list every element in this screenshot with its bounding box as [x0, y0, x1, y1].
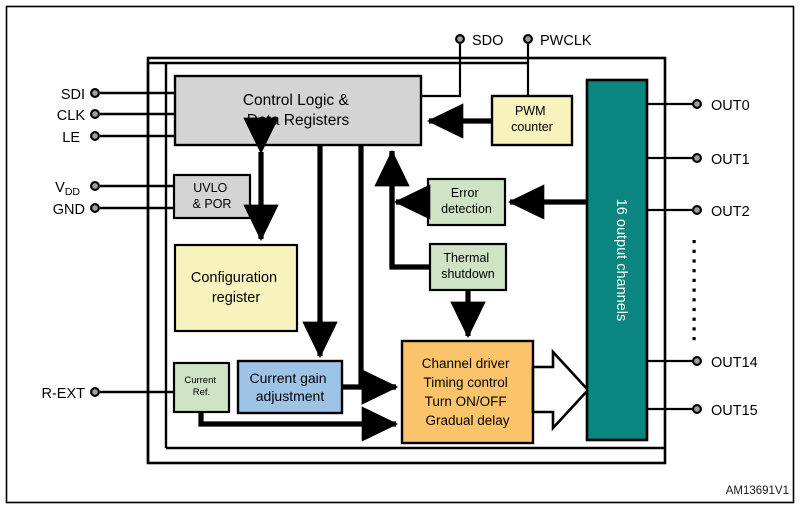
block-current-gain-adjustment[interactable]: Current gain adjustment: [238, 361, 342, 413]
pin-terminal-le[interactable]: [91, 132, 99, 140]
channel-driver-line-1: Channel driver: [422, 356, 510, 371]
error-detection-line-2: detection: [441, 202, 492, 216]
thermal-shutdown-line-2: shutdown: [441, 267, 495, 281]
current-gain-line-1: Current gain: [250, 370, 327, 386]
block-pwm-counter[interactable]: PWM counter: [492, 96, 572, 145]
configuration-register-box: [175, 245, 297, 331]
pwm-counter-line-1: PWM: [515, 104, 546, 118]
pin-terminal-out1[interactable]: [693, 154, 701, 162]
uvlo-por-line-2: & POR: [193, 197, 232, 211]
figure-credit-label: AM13691V1: [726, 485, 789, 497]
configuration-register-line-1: Configuration: [191, 270, 277, 286]
block-thermal-shutdown[interactable]: Thermal shutdown: [430, 244, 506, 290]
output-channels-label: 16 output channels: [613, 199, 629, 322]
channel-driver-line-2: Timing control: [423, 375, 507, 390]
output-stage-16-channels[interactable]: 16 output channels: [587, 80, 647, 440]
control-logic-line-1: Control Logic &: [243, 92, 350, 109]
pin-terminal-out0[interactable]: [693, 100, 701, 108]
channel-driver-line-3: Turn ON/OFF: [425, 394, 507, 409]
pin-label-le: LE: [62, 130, 80, 146]
control-logic-line-2: Data Registers: [247, 112, 350, 129]
block-diagram-figure: Control Logic & Data Registers UVLO & PO…: [0, 0, 800, 509]
pin-terminal-out2[interactable]: [693, 206, 701, 214]
pin-terminal-sdi[interactable]: [91, 89, 99, 97]
pin-label-clk: CLK: [57, 108, 86, 124]
block-configuration-register[interactable]: Configuration register: [175, 245, 297, 331]
pin-terminal-rext[interactable]: [91, 388, 99, 396]
configuration-register-line-2: register: [212, 290, 261, 306]
channel-driver-line-4: Gradual delay: [425, 413, 509, 428]
block-uvlo-por[interactable]: UVLO & POR: [174, 175, 250, 218]
pin-label-rext: R-EXT: [42, 386, 86, 402]
pin-label-out14: OUT14: [711, 355, 758, 371]
pin-terminal-sdo[interactable]: [456, 35, 464, 43]
pin-label-sdi: SDI: [61, 87, 85, 103]
uvlo-por-line-1: UVLO: [193, 181, 227, 195]
current-gain-adjustment-box: [238, 361, 342, 413]
block-current-ref[interactable]: Current Ref.: [174, 363, 229, 412]
pin-label-out1: OUT1: [711, 152, 750, 168]
pin-terminal-out15[interactable]: [693, 405, 701, 413]
pin-terminal-vdd[interactable]: [91, 182, 99, 190]
pin-terminal-out14[interactable]: [693, 357, 701, 365]
pin-label-gnd: GND: [53, 202, 85, 218]
current-ref-line-1: Current: [184, 375, 216, 386]
block-error-detection[interactable]: Error detection: [428, 179, 505, 225]
pwm-counter-line-2: counter: [511, 120, 553, 134]
pin-terminal-gnd[interactable]: [91, 204, 99, 212]
control-logic-box: [175, 76, 421, 145]
pin-label-sdo: SDO: [472, 33, 503, 49]
pin-label-pwclk: PWCLK: [540, 33, 592, 49]
current-gain-line-2: adjustment: [256, 388, 325, 404]
diagram-canvas: Control Logic & Data Registers UVLO & PO…: [0, 0, 800, 509]
error-detection-line-1: Error: [451, 186, 479, 200]
pin-label-out0: OUT0: [711, 98, 750, 114]
pin-terminal-clk[interactable]: [91, 110, 99, 118]
pin-label-out15: OUT15: [711, 403, 758, 419]
block-channel-driver[interactable]: Channel driver Timing control Turn ON/OF…: [402, 341, 533, 443]
pin-terminal-pwclk[interactable]: [524, 35, 532, 43]
pin-label-out2: OUT2: [711, 204, 750, 220]
current-ref-line-2: Ref.: [193, 387, 210, 398]
thermal-shutdown-line-1: Thermal: [443, 251, 489, 265]
block-control-logic-data-registers[interactable]: Control Logic & Data Registers: [175, 76, 421, 145]
